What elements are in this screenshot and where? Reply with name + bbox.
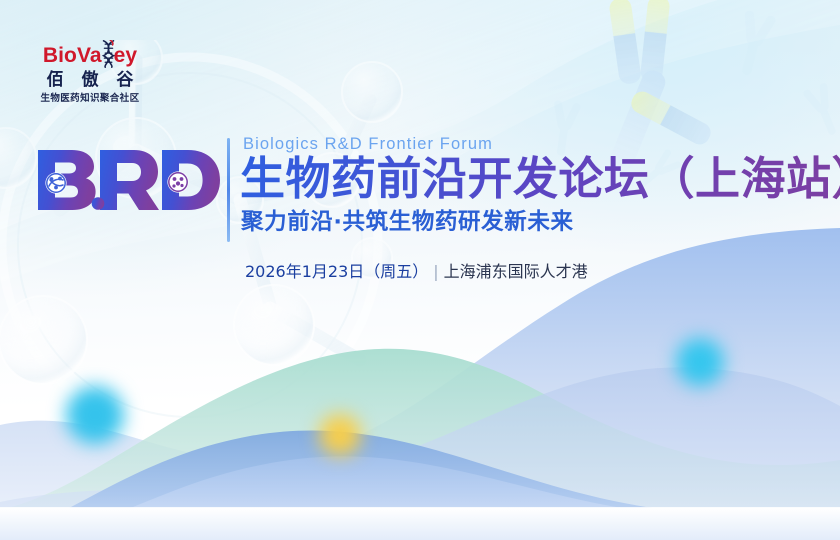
brand-wordmark-suffix: ey — [114, 44, 138, 67]
brand-tagline: 生物医药知识聚合社区 — [27, 92, 153, 105]
brand-wordmark-text: BioValley — [43, 44, 137, 67]
brand-wordmark-prefix: BioVa — [43, 44, 102, 67]
yellow-dot — [319, 414, 361, 456]
event-poster: BioValley 佰 傲 谷 生物医药知识聚合社区 — [0, 0, 840, 540]
event-main-title: 生物药前沿开发论坛（上海站） — [240, 154, 840, 204]
brand-wordmark: BioValley — [27, 44, 153, 67]
meta-separator: | — [428, 262, 443, 281]
event-meta-line: 2026年1月23日（周五）|上海浦东国际人才港 — [245, 261, 588, 283]
brand-logo[interactable]: BioValley 佰 傲 谷 生物医药知识聚合社区 — [27, 44, 153, 105]
brd-logomark[interactable] — [36, 148, 222, 212]
dna-helix-icon — [100, 40, 117, 68]
cyan-dot-left — [66, 386, 124, 444]
brand-name-cn: 佰 傲 谷 — [27, 70, 153, 91]
event-sub-title: 聚力前沿·共筑生物药研发新未来 — [241, 208, 574, 236]
cyan-dot-right — [676, 338, 724, 386]
title-divider — [227, 138, 230, 242]
event-date: 2026年1月23日（周五） — [245, 262, 428, 281]
bottom-band — [0, 508, 840, 540]
event-venue: 上海浦东国际人才港 — [444, 262, 588, 281]
